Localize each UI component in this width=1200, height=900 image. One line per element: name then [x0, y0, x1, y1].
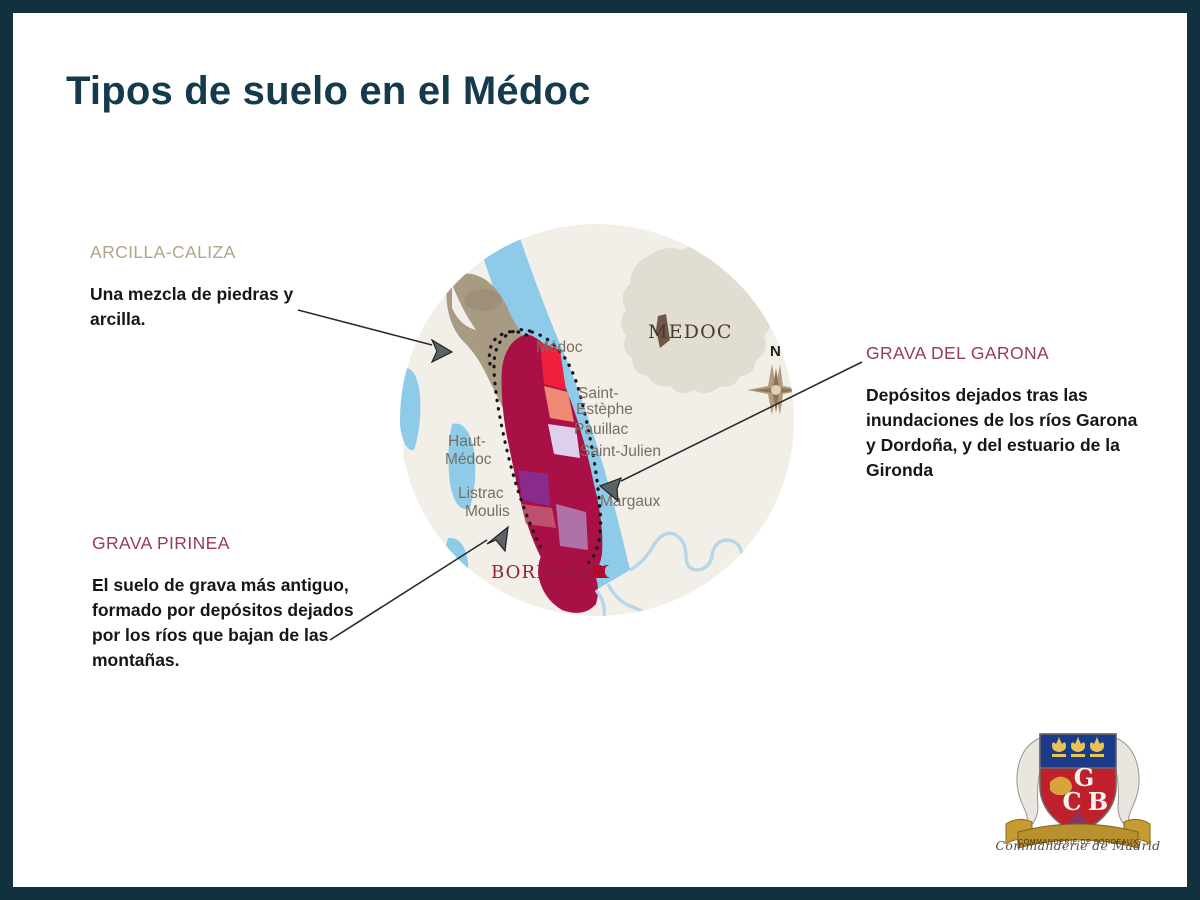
callout-heading-arcilla-caliza: ARCILLA-CALIZA: [90, 242, 340, 263]
callout-body-grava-del-garona: Depósitos dejados tras las inundaciones …: [866, 383, 1138, 482]
map-label-inset-medoc: MEDOC: [648, 321, 733, 343]
map-label-saint-julien: Saint-Julien: [580, 443, 661, 460]
callout-grava-del-garona: GRAVA DEL GARONA Depósitos dejados tras …: [866, 343, 1138, 482]
map-label-pauillac: Pauillac: [574, 421, 629, 438]
map-label-moulis: Moulis: [465, 503, 510, 520]
compass-north-label: N: [770, 343, 781, 360]
map-label-medoc: Médoc: [536, 339, 583, 356]
mantling-right: [1113, 738, 1139, 830]
mantling-left: [1017, 738, 1043, 830]
monogram-b: B: [1088, 787, 1108, 816]
lake-small: [390, 490, 408, 544]
bordeaux-city-marker: [593, 566, 605, 578]
map-graphic: Médoc Saint- Estèphe Pauillac Saint-Juli…: [390, 218, 810, 628]
map-label-saint-estephe-2: Estèphe: [576, 401, 633, 418]
callout-heading-grava-del-garona: GRAVA DEL GARONA: [866, 343, 1138, 364]
map-label-listrac: Listrac: [458, 485, 504, 502]
map-label-margaux: Margaux: [600, 493, 661, 510]
callout-arcilla-caliza: ARCILLA-CALIZA Una mezcla de piedras y a…: [90, 242, 340, 332]
callout-heading-grava-pirinea: GRAVA PIRINEA: [92, 533, 354, 554]
map-label-haut-medoc-2: Médoc: [445, 451, 492, 468]
clay-limestone-detail: [464, 289, 502, 311]
map-label-bordeaux: BORDEAUX: [491, 562, 610, 583]
logo-caption: Commanderie de Madrid: [988, 838, 1168, 853]
monogram-c: C: [1062, 787, 1081, 816]
map-label-saint-estephe: Saint-: [578, 385, 619, 402]
page-title: Tipos de suelo en el Médoc: [66, 69, 591, 114]
callout-body-grava-pirinea: El suelo de grava más antiguo, formado p…: [92, 573, 354, 672]
callout-body-arcilla-caliza: Una mezcla de piedras y arcilla.: [90, 282, 340, 332]
slide: Tipos de suelo en el Médoc: [0, 0, 1200, 900]
map-label-haut-medoc: Haut-: [448, 433, 486, 450]
france-inset-shape: [621, 246, 771, 393]
medoc-soil-map: Médoc Saint- Estèphe Pauillac Saint-Juli…: [390, 218, 810, 628]
callout-grava-pirinea: GRAVA PIRINEA El suelo de grava más anti…: [92, 533, 354, 672]
